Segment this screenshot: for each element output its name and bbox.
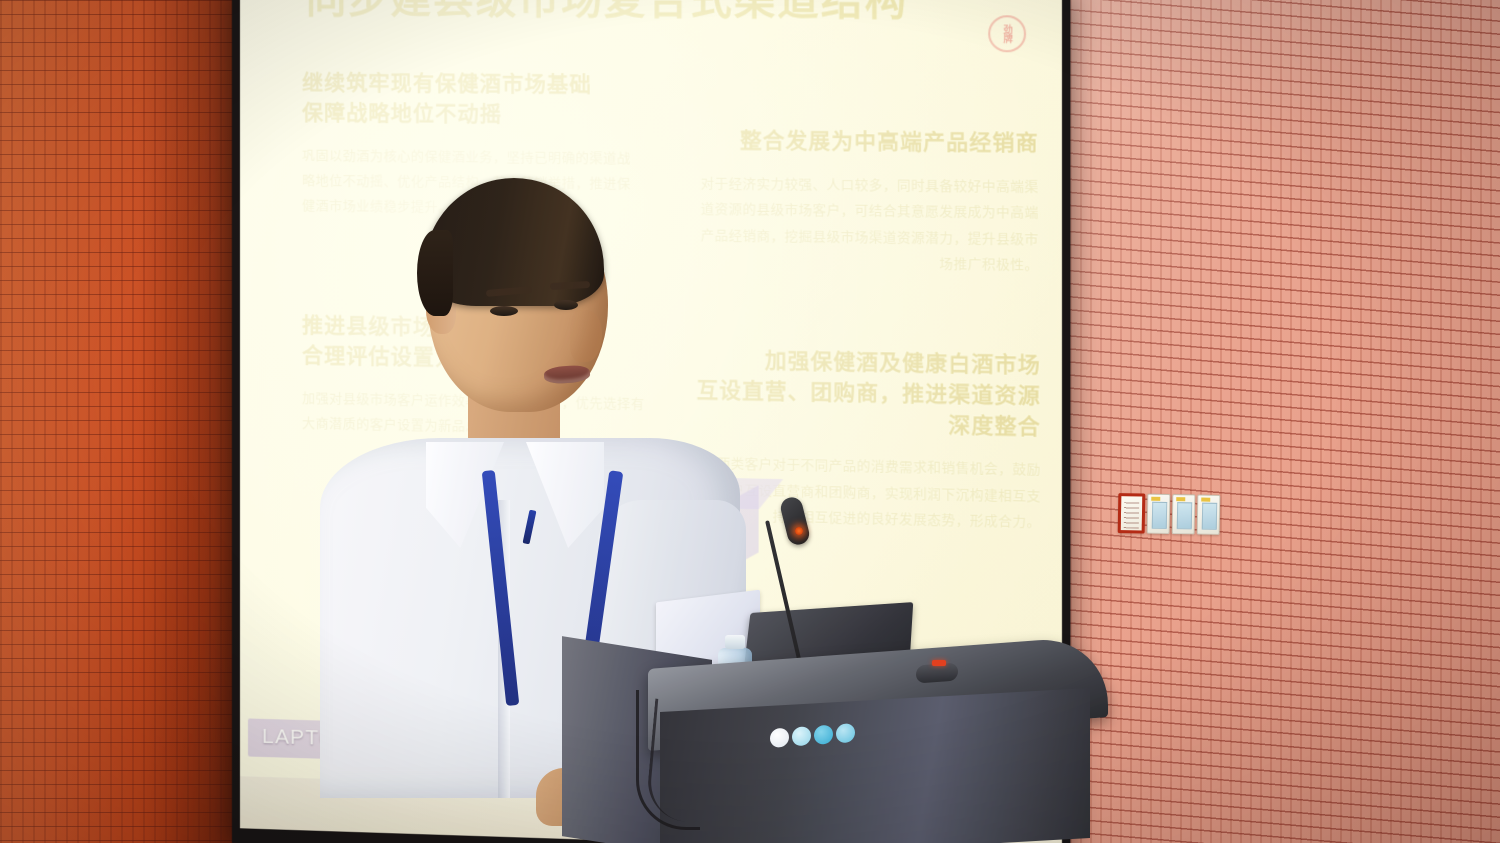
- switch-rocker-icon[interactable]: [1152, 502, 1167, 529]
- block-heading: 继续筑牢现有保健酒市场基础保障战略地位不动摇: [302, 68, 637, 131]
- logo-dot-2-icon: [792, 726, 811, 746]
- microphone-base-led: [932, 660, 946, 666]
- slide-block-top-right: 整合发展为中高端产品经销商 对于经济实力较强、人口较多，同时具备较好中高端渠道资…: [695, 126, 1039, 278]
- switch-rocker-icon[interactable]: [1177, 502, 1192, 529]
- wall-right-acoustic-panel: [1040, 0, 1500, 843]
- block-heading: 加强保健酒及健康白酒市场互设直营、团购商，推进渠道资源深度整合: [684, 345, 1041, 443]
- wall-controls[interactable]: [1118, 493, 1221, 535]
- conference-room-photo: 同步建县级市场复合式渠道结构 劲牌 继续筑牢现有保健酒市场基础保障战略地位不动摇…: [0, 0, 1500, 843]
- podium-front-panel: [660, 688, 1090, 843]
- slide-title: 同步建县级市场复合式渠道结构: [306, 0, 963, 27]
- light-switch-2[interactable]: [1172, 494, 1196, 534]
- block-heading: 整合发展为中高端产品经销商: [695, 126, 1039, 159]
- switch-tab-icon: [1176, 497, 1185, 501]
- eye-left: [490, 306, 518, 316]
- block-body: 对于经济实力较强、人口较多，同时具备较好中高端渠道资源的县级市场客户，可结合其意…: [695, 170, 1039, 278]
- light-switch-3[interactable]: [1197, 494, 1221, 534]
- switch-rocker-icon[interactable]: [1202, 503, 1217, 530]
- bottle-cap: [725, 635, 745, 649]
- fire-alarm-panel[interactable]: [1118, 493, 1146, 533]
- logo-dot-1-icon: [770, 728, 789, 748]
- microphone-led-indicator: [795, 527, 803, 535]
- switch-tab-icon: [1201, 498, 1210, 502]
- wall-left-acoustic-panel: [0, 0, 252, 843]
- alarm-label-lines: [1124, 502, 1139, 528]
- logo-dot-3-icon: [814, 725, 833, 745]
- company-logo-stamp-icon: 劲牌: [988, 15, 1026, 52]
- logo-dot-4-icon: [836, 723, 855, 743]
- switch-tab-icon: [1151, 497, 1160, 501]
- eye-right: [554, 300, 578, 310]
- nose: [570, 310, 602, 362]
- light-switch-1[interactable]: [1147, 494, 1171, 534]
